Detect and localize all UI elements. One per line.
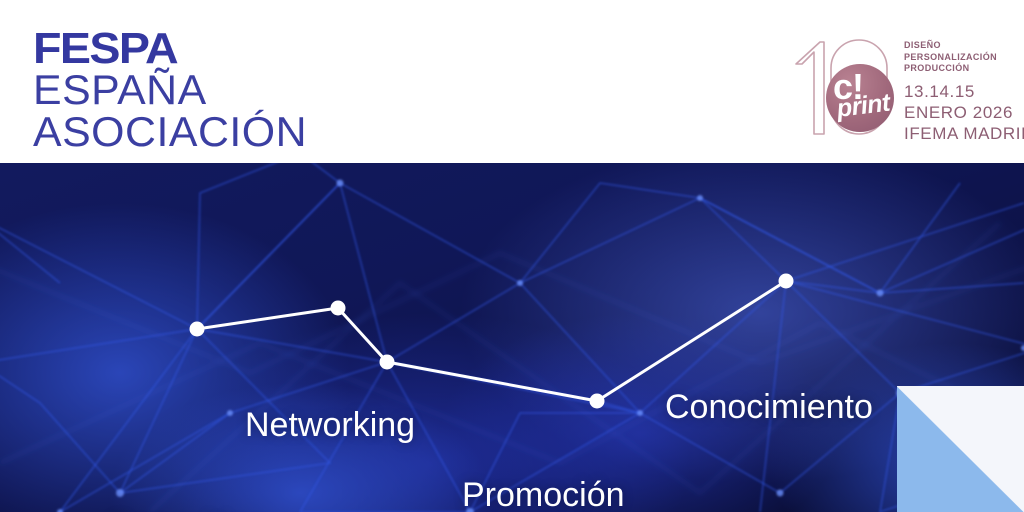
cprint-venue: IFEMA MADRID (904, 123, 1024, 144)
hero-panel: Consulting Networking Promoción Conocimi… (0, 163, 1024, 512)
fespa-wordmark: FESPA (33, 30, 318, 68)
banner-root: FESPA ESPAÑA ASOCIACIÓN c! print DISEÑO (0, 0, 1024, 512)
cprint-tagline-3: PRODUCCIÓN (904, 63, 1024, 75)
fespa-line-espana: ESPAÑA (33, 70, 307, 110)
cprint-logo[interactable]: c! print DISEÑO PERSONALIZACIÓN PRODUCCI… (790, 34, 1000, 144)
cprint-dates: 13.14.15 (904, 81, 1024, 102)
node-label-networking: Networking (245, 406, 415, 445)
cprint-event-details: DISEÑO PERSONALIZACIÓN PRODUCCIÓN 13.14.… (904, 40, 1024, 144)
fespa-line-asociacion: ASOCIACIÓN (33, 112, 307, 152)
cprint-badge-circle: c! print (826, 64, 894, 132)
fespa-logo[interactable]: FESPA ESPAÑA ASOCIACIÓN (33, 30, 302, 152)
network-background-graphic (0, 163, 1024, 512)
node-label-conocimiento: Conocimiento (665, 388, 873, 427)
cprint-month-year: ENERO 2026 (904, 102, 1024, 123)
header-bar: FESPA ESPAÑA ASOCIACIÓN c! print DISEÑO (0, 0, 1024, 163)
cprint-print-word: print (835, 91, 891, 122)
cprint-tagline-1: DISEÑO (904, 40, 1024, 52)
cprint-tagline-2: PERSONALIZACIÓN (904, 52, 1024, 64)
anniversary-10-mark: c! print (790, 34, 898, 138)
node-label-promocion: Promoción (462, 476, 625, 512)
